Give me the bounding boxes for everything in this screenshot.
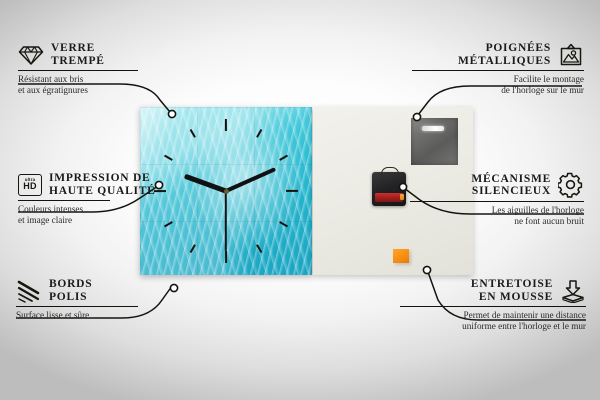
feature-subtitle: Résistant aux bris [18,74,190,85]
quartz-movement-mechanism [372,172,406,206]
feature-subtitle: et image claire [18,215,198,226]
clock-minute-hand [225,167,276,193]
foam-spacer [393,249,409,263]
feature-entretoise-en-mousse: ENTRETOISE EN MOUSSE Permet de maintenir… [400,278,586,332]
feature-subtitle: Les aiguilles de l'horloge [410,205,584,216]
feature-rule [410,201,584,202]
bracket-slot [422,126,444,131]
feature-title: HAUTE QUALITÉ [49,185,156,198]
feature-subtitle: de l'horloge sur le mur [412,85,584,96]
feature-subtitle: uniforme entre l'horloge et le mur [400,321,586,332]
feature-subtitle: Surface lisse et sûre [16,310,196,321]
feature-poignees-metalliques: POIGNÉES MÉTALLIQUES Facilite le montage… [412,42,584,96]
polished-edges-icon [16,279,42,303]
feature-subtitle: et aux égratignures [18,85,190,96]
feature-subtitle: Couleurs intenses [18,204,198,215]
feature-rule [412,70,584,71]
foam-spacer-icon [560,279,586,303]
feature-title: VERRE [51,42,105,55]
feature-title: TREMPÉ [51,55,105,68]
ultra-hd-large-label: HD [23,182,36,191]
feature-title: POIGNÉES [458,42,551,55]
feature-rule [400,306,586,307]
infographic-canvas: VERRE TREMPÉ Résistant aux bris et aux é… [0,0,600,400]
feature-rule [16,306,138,307]
feature-bords-polis: BORDS POLIS Surface lisse et sûre [16,278,196,321]
feature-title: MÉCANISME [471,173,551,186]
feature-title: IMPRESSION DE [49,172,156,185]
gear-icon [558,172,584,198]
clock-second-hand [225,191,227,251]
diamond-icon [18,44,44,66]
feature-subtitle: Facilite le montage [412,74,584,85]
picture-frame-hanger-icon [558,43,584,67]
feature-rule [18,70,138,71]
ultra-hd-icon: ultra HD [18,174,42,196]
feature-mecanisme-silencieux: MÉCANISME SILENCIEUX Les aiguilles de l'… [410,172,584,227]
feature-title: POLIS [49,291,92,304]
feature-title: MÉTALLIQUES [458,55,551,68]
mechanism-hanger-loop [381,167,399,177]
feature-impression-haute-qualite: ultra HD IMPRESSION DE HAUTE QUALITÉ Cou… [18,172,198,226]
feature-title: ENTRETOISE [471,278,553,291]
feature-title: SILENCIEUX [471,185,551,198]
feature-subtitle: Permet de maintenir une distance [400,310,586,321]
battery [375,193,403,202]
clock-center-cap [224,189,229,194]
metal-hanging-bracket [411,118,458,165]
feature-verre-trempe: VERRE TREMPÉ Résistant aux bris et aux é… [18,42,190,96]
feature-subtitle: ne font aucun bruit [410,216,584,227]
feature-title: BORDS [49,278,92,291]
feature-title: EN MOUSSE [471,291,553,304]
feature-rule [18,200,110,201]
